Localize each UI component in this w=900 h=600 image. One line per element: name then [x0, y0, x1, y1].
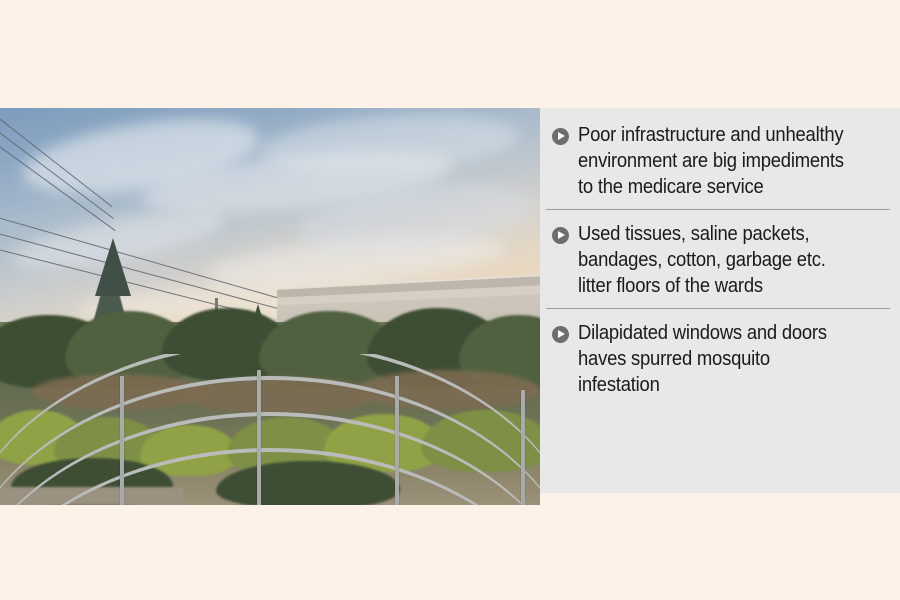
- conifer-tree: [95, 238, 131, 296]
- play-circle-icon: [552, 227, 569, 244]
- road-surface: [0, 487, 184, 505]
- garden-ground: [0, 322, 540, 505]
- key-point-text: Used tissues, saline packets, bandages, …: [578, 221, 855, 299]
- key-point-item: Dilapidated windows and doors haves spur…: [546, 308, 890, 407]
- play-circle-icon: [552, 326, 569, 343]
- key-points-panel: Poor infrastructure and unhealthy enviro…: [540, 108, 900, 493]
- key-point-item: Used tissues, saline packets, bandages, …: [546, 209, 890, 308]
- key-point-text: Dilapidated windows and doors haves spur…: [578, 320, 855, 398]
- photo-panel: উপজেলা স্বাস্থ্য কমপ্লেক্স, ঈশ্বরদী, পাব…: [0, 108, 540, 505]
- key-point-text: Poor infrastructure and unhealthy enviro…: [578, 122, 855, 200]
- play-circle-icon: [552, 128, 569, 145]
- key-point-item: Poor infrastructure and unhealthy enviro…: [546, 122, 890, 209]
- infographic-container: উপজেলা স্বাস্থ্য কমপ্লেক্স, ঈশ্বরদী, পাব…: [0, 108, 900, 493]
